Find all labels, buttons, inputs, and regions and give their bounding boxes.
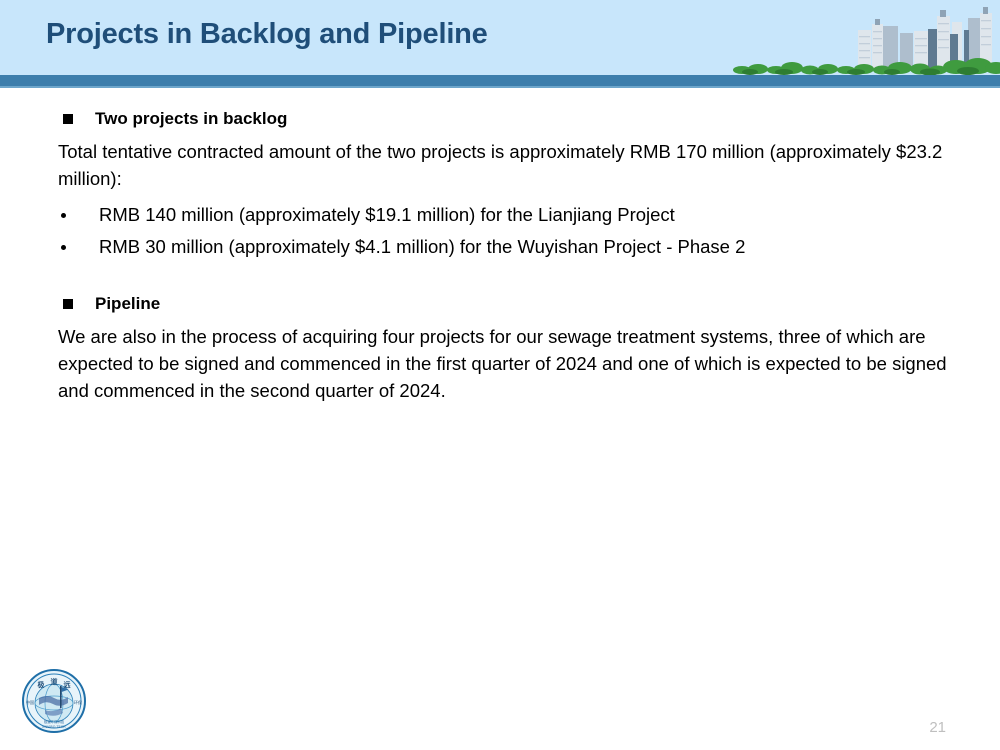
square-bullet-icon: [63, 114, 73, 124]
page-title: Projects in Backlog and Pipeline: [46, 18, 488, 51]
svg-text:远: 远: [64, 681, 72, 689]
svg-text:ENVIRO TECH: ENVIRO TECH: [42, 725, 66, 729]
slide-content: Two projects in backlog Total tentative …: [58, 108, 958, 404]
block-heading-row: Two projects in backlog: [58, 108, 958, 130]
content-block-backlog: Two projects in backlog Total tentative …: [58, 108, 958, 263]
list-item: RMB 30 million (approximately $4.1 milli…: [58, 231, 958, 263]
list-item: RMB 140 million (approximately $19.1 mil…: [58, 199, 958, 231]
block-paragraph: Total tentative contracted amount of the…: [58, 138, 958, 192]
content-block-pipeline: Pipeline We are also in the process of a…: [58, 293, 958, 404]
header-divider-accent: [0, 86, 1000, 88]
block-heading: Pipeline: [95, 293, 160, 315]
square-bullet-icon: [63, 299, 73, 309]
svg-text:道: 道: [51, 677, 58, 686]
dot-bullet-icon: [61, 245, 66, 250]
list-item-label: RMB 140 million (approximately $19.1 mil…: [99, 199, 675, 231]
skyline-graphic: [732, 0, 1000, 75]
svg-text:环保: 环保: [74, 699, 82, 705]
svg-text:极道环保科技: 极道环保科技: [44, 719, 65, 724]
section-spacer: [58, 263, 958, 293]
list-item-label: RMB 30 million (approximately $4.1 milli…: [99, 231, 745, 263]
block-heading-row: Pipeline: [58, 293, 958, 315]
bullet-list-backlog: RMB 140 million (approximately $19.1 mil…: [58, 199, 958, 263]
slide-header: Projects in Backlog and Pipeline: [0, 0, 1000, 75]
svg-text:中国: 中国: [26, 699, 34, 705]
page-number: 21: [929, 719, 946, 736]
company-logo: 极 道 远 中国 环保 极道环保科技 ENVIRO TECH: [21, 668, 87, 734]
header-divider-bar: [0, 75, 1000, 86]
block-heading: Two projects in backlog: [95, 108, 287, 130]
dot-bullet-icon: [61, 213, 66, 218]
svg-text:极: 极: [38, 680, 46, 689]
block-paragraph: We are also in the process of acquiring …: [58, 323, 958, 404]
